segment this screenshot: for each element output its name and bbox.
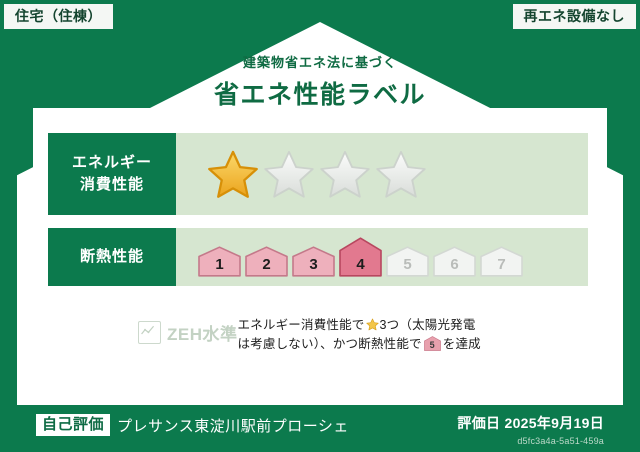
insulation-level-4: 4 (339, 237, 382, 277)
star-rating (208, 149, 426, 199)
inline-house-level: 5 (424, 341, 441, 350)
zeh-desc-part1: エネルギー消費性能で (238, 318, 365, 332)
zeh-desc-stars: 3つ（太陽光発電 (380, 318, 476, 332)
energy-label-line1: エネルギー (72, 152, 152, 174)
insulation-label-text: 断熱性能 (80, 246, 144, 268)
star-icon-filled (208, 149, 258, 199)
star-icon-empty (264, 149, 314, 199)
star-icon-empty (376, 149, 426, 199)
title-subtitle: 建築物省エネ法に基づく (0, 52, 640, 71)
insulation-level-number: 7 (480, 257, 523, 272)
zeh-standard-block: ZEH水準 エネルギー消費性能で3つ（太陽光発電は考慮しない）、かつ断熱性能で5… (48, 312, 588, 370)
page-title: 建築物省エネ法に基づく 省エネ性能ラベル (0, 52, 640, 111)
footer-left-group: 自己評価 プレサンス東淀川駅前プローシェ (36, 414, 349, 436)
zeh-badge-label: ZEH水準 (167, 320, 238, 345)
zeh-chart-icon (138, 321, 161, 344)
energy-performance-value (176, 133, 588, 215)
zeh-desc-part3: を達成 (443, 337, 481, 351)
inline-star-icon (366, 318, 379, 331)
insulation-level-1: 1 (198, 246, 241, 277)
insulation-level-3: 3 (292, 246, 335, 277)
insulation-level-5: 5 (386, 246, 429, 277)
evaluation-date: 評価日 2025年9月19日 (457, 413, 604, 433)
insulation-level-number: 2 (245, 257, 288, 272)
building-name: プレサンス東淀川駅前プローシェ (117, 415, 349, 436)
energy-performance-label: エネルギー 消費性能 (48, 133, 176, 215)
insulation-level-scale: 1234567 (198, 237, 523, 277)
insulation-level-6: 6 (433, 246, 476, 277)
insulation-level-2: 2 (245, 246, 288, 277)
insulation-performance-label: 断熱性能 (48, 228, 176, 286)
zeh-description: エネルギー消費性能で3つ（太陽光発電は考慮しない）、かつ断熱性能で5を達成 (238, 312, 589, 355)
insulation-level-number: 3 (292, 257, 335, 272)
star-icon-empty (320, 149, 370, 199)
insulation-level-number: 6 (433, 257, 476, 272)
zeh-badge: ZEH水準 (48, 312, 238, 345)
energy-performance-label: 住宅（住棟） 再エネ設備なし 建築物省エネ法に基づく 省エネ性能ラベル エネルギ… (0, 0, 640, 452)
label-footer: 自己評価 プレサンス東淀川駅前プローシェ 評価日 2025年9月19日 d5fc… (0, 405, 640, 452)
insulation-performance-row: 断熱性能 1234567 (48, 228, 588, 286)
title-main: 省エネ性能ラベル (0, 75, 640, 111)
self-evaluation-badge: 自己評価 (36, 414, 110, 436)
inline-house-icon: 5 (424, 336, 441, 351)
insulation-level-number: 1 (198, 257, 241, 272)
building-type-tag: 住宅（住棟） (4, 4, 113, 29)
energy-label-line2: 消費性能 (80, 174, 144, 196)
insulation-level-number: 4 (339, 257, 382, 272)
insulation-performance-value: 1234567 (176, 228, 588, 286)
energy-performance-row: エネルギー 消費性能 (48, 133, 588, 215)
renewable-energy-tag: 再エネ設備なし (513, 4, 637, 29)
insulation-level-7: 7 (480, 246, 523, 277)
footer-right-group: 評価日 2025年9月19日 d5fc3a4a-5a51-459a (457, 413, 604, 446)
insulation-level-number: 5 (386, 257, 429, 272)
evaluation-id: d5fc3a4a-5a51-459a (457, 436, 604, 446)
zeh-desc-part2: は考慮しない）、かつ断熱性能で (238, 337, 422, 351)
